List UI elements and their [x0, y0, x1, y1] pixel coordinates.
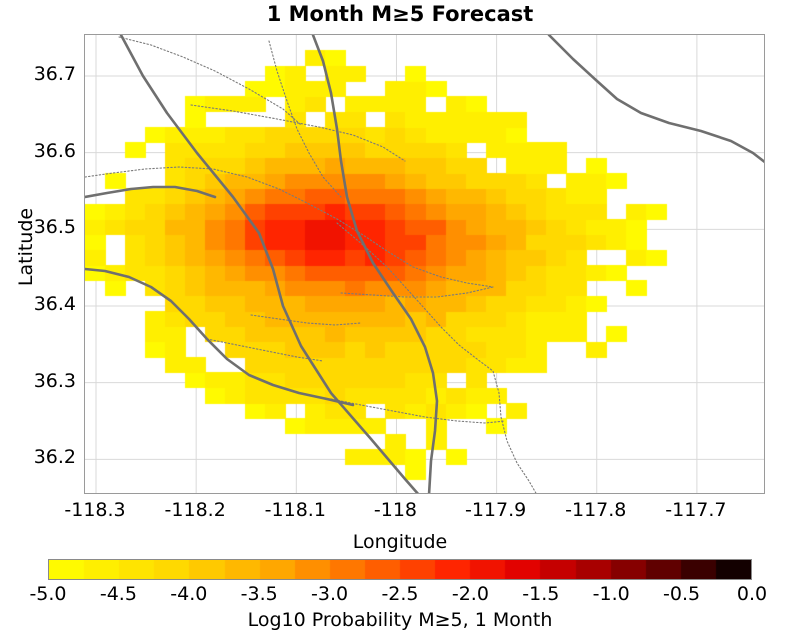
road-line — [85, 269, 353, 405]
colorbar-tick-label: -3.0 — [290, 583, 370, 605]
boundary-line — [191, 105, 405, 161]
boundary-line — [341, 287, 493, 297]
boundary-line — [85, 167, 493, 287]
boundary-line — [331, 399, 505, 423]
road-line — [85, 187, 215, 197]
y-axis-title: Latitude — [15, 187, 37, 307]
colorbar — [48, 559, 752, 580]
colorbar-tick-label: -0.5 — [642, 583, 722, 605]
x-tick-label: -117.8 — [541, 499, 651, 521]
colorbar-tick-label: -4.0 — [149, 583, 229, 605]
colorbar-tick-label: -2.0 — [430, 583, 510, 605]
colorbar-tick-label: -1.5 — [501, 583, 581, 605]
y-tick-label: 36.7 — [6, 63, 76, 85]
map-overlay — [85, 35, 765, 494]
x-tick-label: -118 — [340, 499, 450, 521]
colorbar-gradient — [49, 560, 751, 579]
colorbar-tick-label: -3.5 — [219, 583, 299, 605]
x-tick-label: -117.9 — [441, 499, 551, 521]
x-tick-label: -118.3 — [40, 499, 150, 521]
x-tick-label: -117.7 — [641, 499, 751, 521]
road-line — [549, 35, 765, 163]
colorbar-tick-label: 0.0 — [712, 583, 792, 605]
forecast-map-figure: 1 Month M≥5 Forecast 36.736.636.536.436.… — [0, 0, 800, 643]
boundary-line — [337, 223, 537, 494]
boundary-line — [251, 315, 361, 325]
colorbar-tick-label: -1.0 — [571, 583, 651, 605]
page-title: 1 Month M≥5 Forecast — [0, 2, 800, 26]
x-tick-label: -118.2 — [140, 499, 250, 521]
colorbar-tick-label: -5.0 — [8, 583, 88, 605]
colorbar-tick-label: -2.5 — [360, 583, 440, 605]
x-tick-label: -118.1 — [240, 499, 350, 521]
y-tick-label: 36.6 — [6, 140, 76, 162]
colorbar-title: Log10 Probability M≥5, 1 Month — [0, 609, 800, 631]
y-tick-label: 36.2 — [6, 446, 76, 468]
x-axis-title: Longitude — [0, 531, 800, 553]
road-line — [313, 35, 437, 494]
y-tick-label: 36.3 — [6, 370, 76, 392]
colorbar-tick-label: -4.5 — [78, 583, 158, 605]
plot-area — [84, 34, 765, 494]
